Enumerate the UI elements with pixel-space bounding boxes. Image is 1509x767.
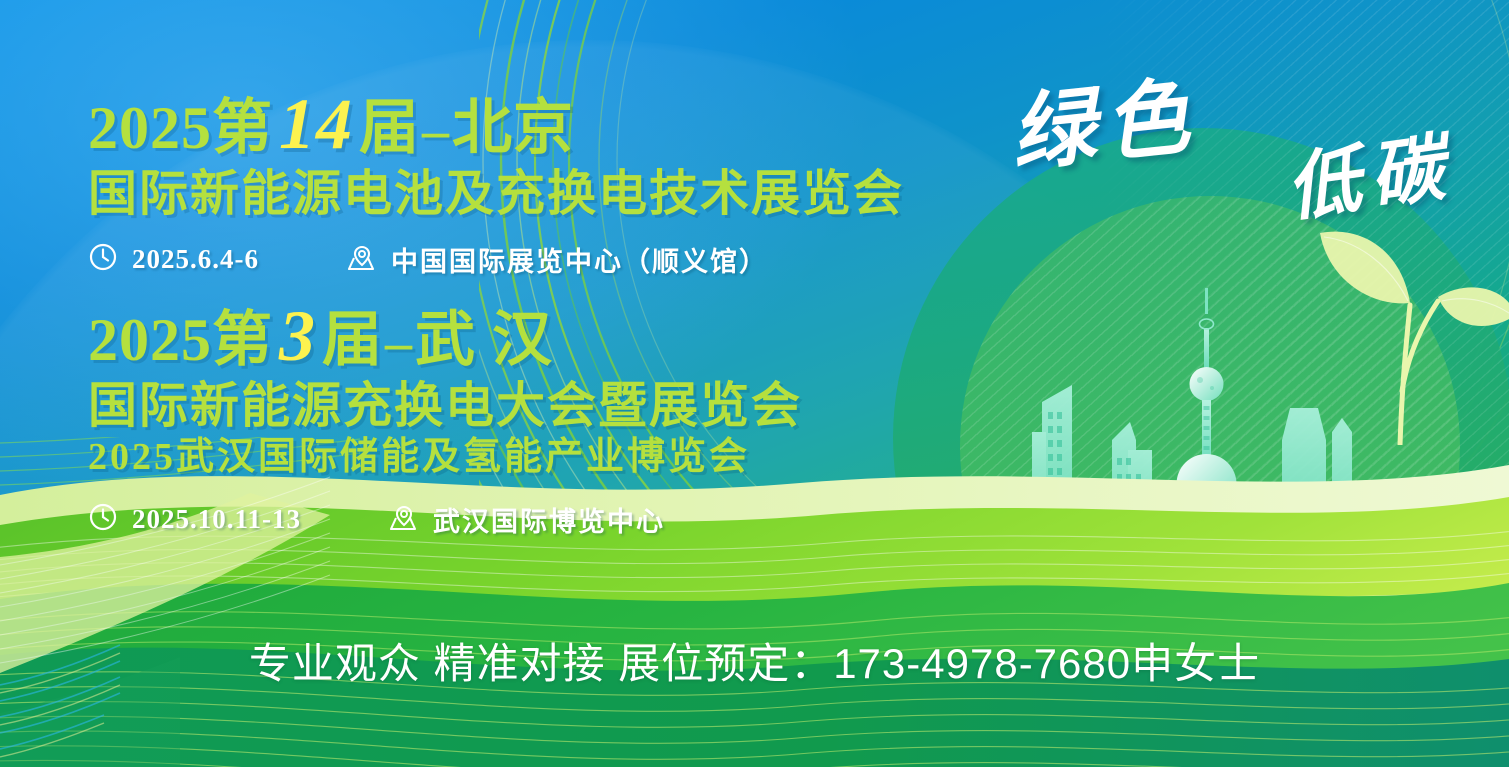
beijing-venue: 中国国际展览中心（顺义馆）: [391, 240, 768, 279]
beijing-subtitle: 国际新能源电池及充换电技术展览会: [88, 169, 904, 218]
clock-icon: [88, 242, 118, 277]
clock-icon: [88, 502, 118, 537]
beijing-info-row: 2025.6.4-6 中国国际展览中心（顺义馆）: [88, 240, 904, 279]
wuhan-headline-suffix: 届: [322, 307, 383, 373]
beijing-date: 2025.6.4-6: [132, 244, 259, 275]
wuhan-headline: 2025第3届–武 汉: [88, 300, 802, 372]
event-block-beijing: 2025第14届–北京 国际新能源电池及充换电技术展览会 2025.6.4-6 …: [88, 88, 904, 279]
leaf-decoration: [1310, 215, 1509, 445]
contact-line: 专业观众 精准对接 展位预定：173-4978-7680申女士: [0, 630, 1509, 691]
wuhan-headline-prefix: 2025第: [88, 307, 273, 373]
event-block-wuhan: 2025第3届–武 汉 国际新能源充换电大会暨展览会 2025武汉国际储能及氢能…: [88, 300, 802, 539]
beijing-headline-suffix: 届: [359, 95, 420, 161]
beijing-edition-number: 14: [273, 84, 359, 164]
wuhan-subtitle: 国际新能源充换电大会暨展览会: [88, 381, 802, 430]
map-pin-icon: [387, 501, 419, 538]
beijing-headline-city: 北京: [452, 95, 574, 161]
wuhan-subtitle-2: 2025武汉国际储能及氢能产业博览会: [88, 438, 802, 476]
wuhan-info-row: 2025.10.11-13 武汉国际博览中心: [88, 500, 802, 539]
wuhan-headline-dash: –: [383, 312, 415, 372]
wuhan-date: 2025.10.11-13: [132, 504, 301, 535]
map-pin-icon: [345, 241, 377, 278]
calligraphy-green: 绿色: [1004, 49, 1204, 189]
beijing-headline: 2025第14届–北京: [88, 88, 904, 160]
wuhan-headline-city: 武 汉: [415, 307, 553, 373]
beijing-headline-prefix: 2025第: [88, 95, 273, 161]
wuhan-venue: 武汉国际博览中心: [433, 500, 665, 539]
wuhan-edition-number: 3: [273, 296, 322, 376]
poster-root: 绿色 低碳 2025第14届–北京 国际新能源电池及充换电技术展览会 2025.…: [0, 0, 1509, 767]
beijing-headline-dash: –: [420, 100, 452, 160]
